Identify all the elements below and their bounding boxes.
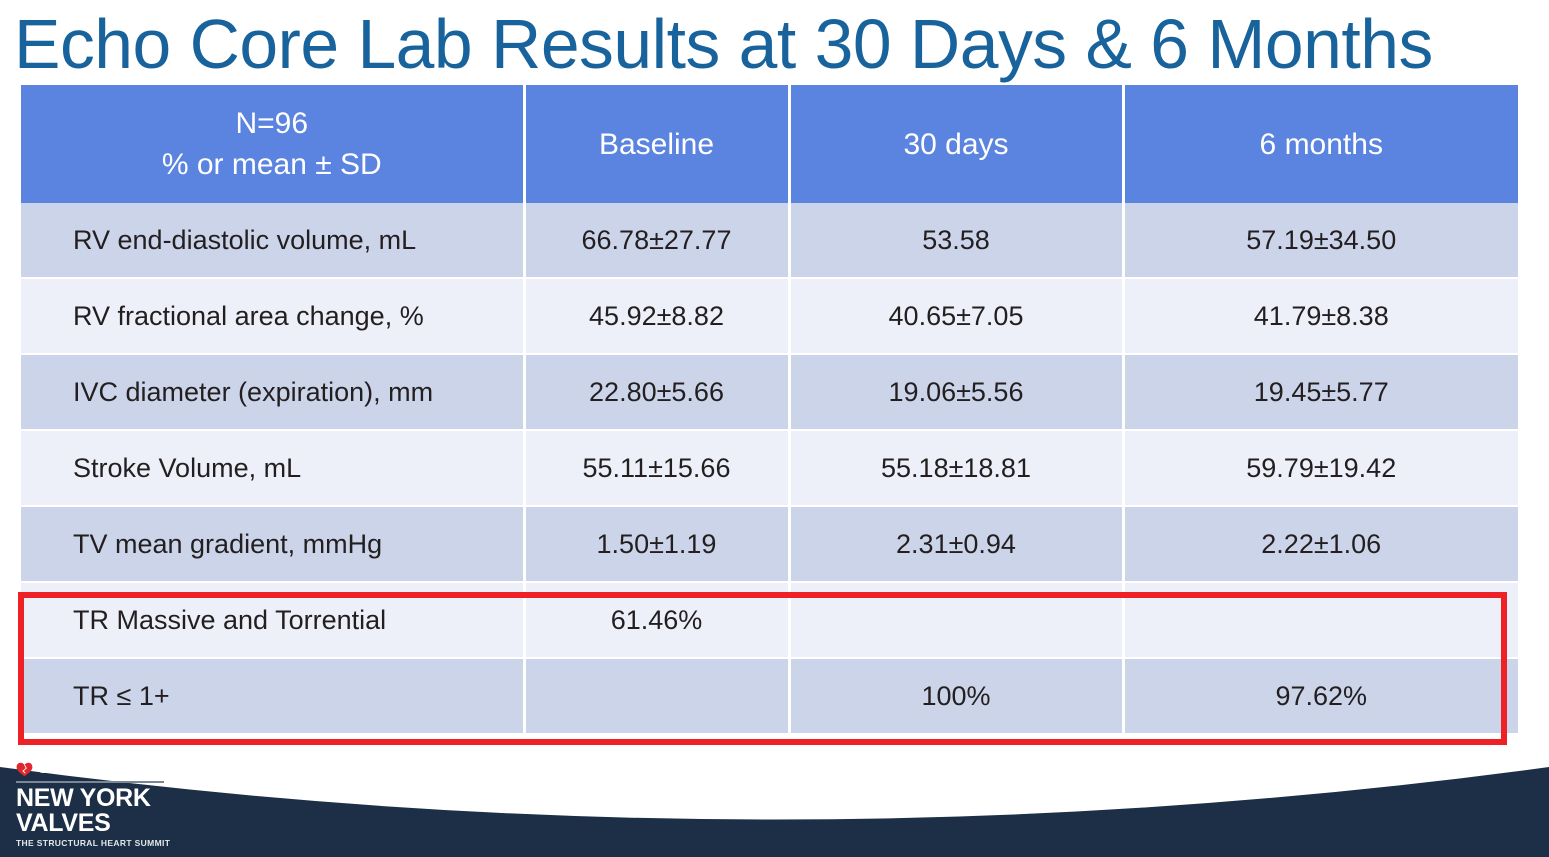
row-value-30-days: [789, 582, 1123, 658]
table-row: RV end-diastolic volume, mL 66.78±27.77 …: [21, 203, 1518, 278]
echo-results-table: N=96 % or mean ± SD Baseline 30 days 6 m…: [21, 85, 1518, 735]
crf-wordmark: CRF: [37, 761, 72, 777]
column-header-baseline: Baseline: [524, 85, 789, 203]
table-row-highlighted: TR ≤ 1+ 100% 97.62%: [21, 658, 1518, 734]
row-value-6-months: [1123, 582, 1518, 658]
row-value-baseline: 66.78±27.77: [524, 203, 789, 278]
table-row: TV mean gradient, mmHg 1.50±1.19 2.31±0.…: [21, 506, 1518, 582]
row-value-30-days: 100%: [789, 658, 1123, 734]
heart-icon: [16, 762, 33, 777]
row-label: RV fractional area change, %: [21, 278, 524, 354]
page-title: Echo Core Lab Results at 30 Days & 6 Mon…: [14, 6, 1526, 82]
row-value-baseline: 22.80±5.66: [524, 354, 789, 430]
table-row: IVC diameter (expiration), mm 22.80±5.66…: [21, 354, 1518, 430]
row-label: TR ≤ 1+: [21, 658, 524, 734]
row-value-6-months: 2.22±1.06: [1123, 506, 1518, 582]
row-value-6-months: 41.79±8.38: [1123, 278, 1518, 354]
table-header: N=96 % or mean ± SD Baseline 30 days 6 m…: [21, 85, 1518, 203]
row-value-30-days: 40.65±7.05: [789, 278, 1123, 354]
row-value-30-days: 2.31±0.94: [789, 506, 1123, 582]
row-value-baseline: 1.50±1.19: [524, 506, 789, 582]
slide: Echo Core Lab Results at 30 Days & 6 Mon…: [0, 0, 1549, 857]
table-row: Stroke Volume, mL 55.11±15.66 55.18±18.8…: [21, 430, 1518, 506]
row-label: IVC diameter (expiration), mm: [21, 354, 524, 430]
conference-logo: CRF NEW YORK VALVES THE STRUCTURAL HEART…: [16, 760, 276, 849]
table-body: RV end-diastolic volume, mL 66.78±27.77 …: [21, 203, 1518, 734]
row-value-6-months: 97.62%: [1123, 658, 1518, 734]
row-value-baseline: 45.92±8.82: [524, 278, 789, 354]
row-label: TV mean gradient, mmHg: [21, 506, 524, 582]
row-value-30-days: 55.18±18.81: [789, 430, 1123, 506]
table-row-highlighted: TR Massive and Torrential 61.46%: [21, 582, 1518, 658]
row-value-6-months: 57.19±34.50: [1123, 203, 1518, 278]
column-header-6-months: 6 months: [1123, 85, 1518, 203]
row-value-30-days: 53.58: [789, 203, 1123, 278]
column-header-baseline-label: Baseline: [526, 124, 788, 165]
row-value-baseline: 55.11±15.66: [524, 430, 789, 506]
column-header-6-months-label: 6 months: [1125, 124, 1519, 165]
logo-line-valves: VALVES: [16, 811, 276, 836]
column-header-measure-line1: N=96: [21, 103, 523, 144]
logo-tagline: THE STRUCTURAL HEART SUMMIT: [16, 838, 276, 849]
row-value-30-days: 19.06±5.56: [789, 354, 1123, 430]
column-header-measure: N=96 % or mean ± SD: [21, 85, 524, 203]
row-value-6-months: 59.79±19.42: [1123, 430, 1518, 506]
table-row: RV fractional area change, % 45.92±8.82 …: [21, 278, 1518, 354]
row-label: TR Massive and Torrential: [21, 582, 524, 658]
column-header-30-days-label: 30 days: [791, 124, 1122, 165]
table-header-row: N=96 % or mean ± SD Baseline 30 days 6 m…: [21, 85, 1518, 203]
logo-line-new-york: NEW YORK: [16, 786, 276, 811]
row-value-baseline: 61.46%: [524, 582, 789, 658]
logo-divider: [16, 781, 164, 783]
crf-logo-lockup: CRF: [16, 760, 276, 778]
column-header-measure-line2: % or mean ± SD: [21, 144, 523, 185]
row-label: RV end-diastolic volume, mL: [21, 203, 524, 278]
row-value-baseline: [524, 658, 789, 734]
row-label: Stroke Volume, mL: [21, 430, 524, 506]
row-value-6-months: 19.45±5.77: [1123, 354, 1518, 430]
echo-results-table-container: N=96 % or mean ± SD Baseline 30 days 6 m…: [21, 85, 1518, 735]
column-header-30-days: 30 days: [789, 85, 1123, 203]
